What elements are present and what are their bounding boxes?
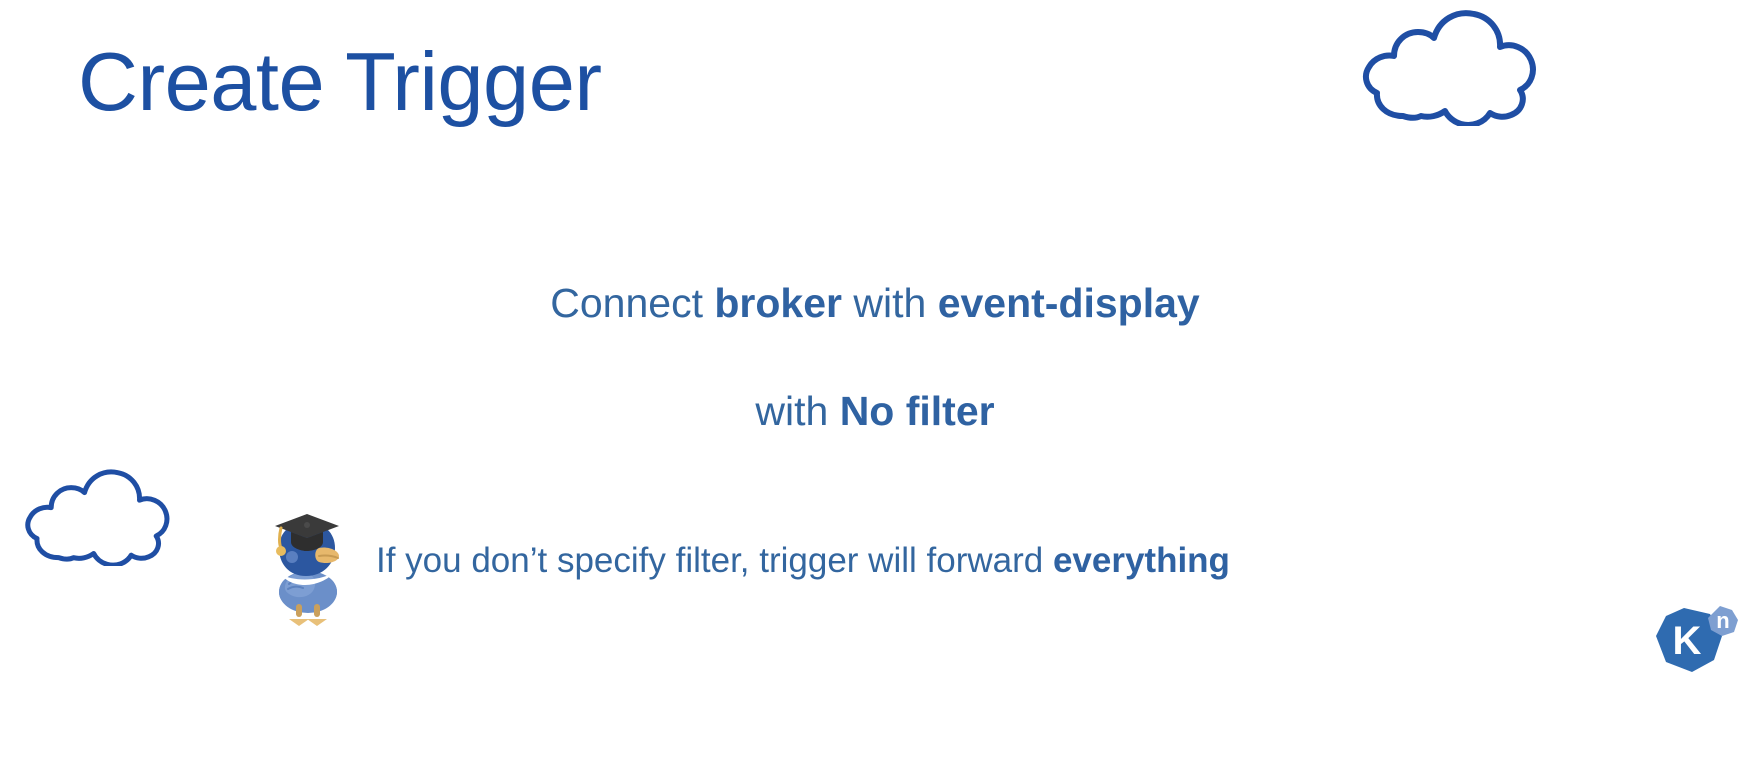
graduate-bird-mascot-icon [267, 500, 345, 633]
body-text-connect: Connect [550, 280, 714, 326]
note-text: If you don’t specify filter, trigger wil… [376, 541, 1053, 580]
body-line-connect: Connect broker with event-display [0, 278, 1750, 329]
body-text-with2: with [755, 388, 839, 434]
knative-logo-k: K [1673, 619, 1702, 663]
cloud-decoration-top-right [1356, 6, 1542, 131]
body-line-filter: with No filter [0, 386, 1750, 437]
cloud-decoration-bottom-left [18, 466, 176, 571]
knative-logo: K n [1648, 592, 1744, 693]
slide-canvas: Create Trigger Connect broker with event… [0, 0, 1750, 766]
body-bold-event-display: event-display [938, 280, 1200, 326]
body-bold-broker: broker [714, 280, 842, 326]
page-title: Create Trigger [78, 36, 602, 129]
note-text-filter-default: If you don’t specify filter, trigger wil… [376, 541, 1230, 581]
body-bold-no-filter: No filter [840, 388, 995, 434]
note-bold-everything: everything [1053, 541, 1230, 580]
body-text-with: with [842, 280, 938, 326]
knative-logo-n: n [1716, 608, 1729, 633]
